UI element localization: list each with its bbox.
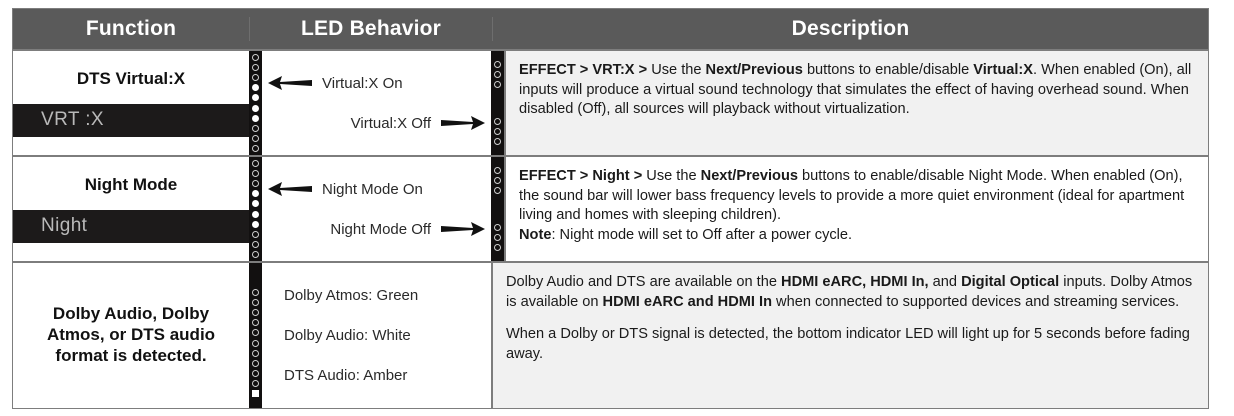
emphasis-text: Virtual:X (973, 62, 1033, 78)
led-behavior-label: Night Mode Off (330, 221, 431, 238)
led-dot-off (252, 180, 259, 187)
led-dot-off (252, 350, 259, 357)
led-dot-off (252, 64, 259, 71)
emphasis-text: Digital Optical (961, 274, 1059, 290)
table-row: Dolby Audio, Dolby Atmos, or DTS audio f… (13, 261, 1208, 408)
led-dot-off (252, 241, 259, 248)
body-text: when connected to supported devices and … (772, 294, 1179, 310)
led-dot-off (494, 71, 501, 78)
led-side-strip-row1 (491, 51, 504, 155)
led-indicator-strip-row3 (249, 263, 262, 408)
description-paragraph: Dolby Audio and DTS are available on the… (506, 273, 1195, 312)
led-dot-off (494, 187, 501, 194)
description-cell-row1: EFFECT > VRT:X > Use the Next/Previous b… (504, 51, 1208, 155)
emphasis-text: EFFECT > Night > (519, 168, 646, 184)
body-text: When a Dolby or DTS signal is detected, … (506, 326, 1190, 362)
led-dot-on (252, 115, 259, 122)
emphasis-text: Next/Previous (706, 62, 803, 78)
led-behavior-line: Virtual:X Off (262, 103, 491, 143)
body-text: Use the (651, 62, 705, 78)
led-dot-off (252, 170, 259, 177)
led-dot-off (252, 360, 259, 367)
led-dot-on (252, 211, 259, 218)
led-behavior-line: Dolby Audio: White (262, 316, 491, 356)
led-behavior-cell-row3: Dolby Atmos: Green Dolby Audio: White DT… (262, 263, 491, 408)
description-cell-row3: Dolby Audio and DTS are available on the… (491, 263, 1208, 408)
table-row: Night Mode Night Night Mode On Night (13, 155, 1208, 261)
emphasis-text: HDMI eARC, HDMI In, (781, 274, 929, 290)
led-dot-on (252, 221, 259, 228)
led-dot-off (252, 231, 259, 238)
led-side-group-bottom (494, 116, 501, 147)
function-title: Dolby Audio, Dolby Atmos, or DTS audio f… (13, 304, 249, 366)
led-behavior-label: Dolby Audio: White (284, 327, 411, 344)
led-dot-off (494, 81, 501, 88)
body-text: and (929, 274, 961, 290)
column-header-description: Description (492, 17, 1208, 41)
led-dot-off (252, 251, 259, 258)
led-dot-off (252, 329, 259, 336)
led-dot-off (252, 135, 259, 142)
led-side-group-bottom (494, 222, 501, 253)
led-behavior-label: Virtual:X On (322, 75, 403, 92)
emphasis-text: EFFECT > VRT:X > (519, 62, 651, 78)
led-dot-off (252, 319, 259, 326)
function-cell-audio-format-detected: Dolby Audio, Dolby Atmos, or DTS audio f… (13, 263, 249, 408)
led-dot-off (252, 289, 259, 296)
led-behavior-line: Night Mode On (262, 169, 491, 209)
led-behavior-table: Function LED Behavior Description DTS Vi… (12, 8, 1209, 409)
led-dot-off (494, 61, 501, 68)
led-dot-off (494, 224, 501, 231)
led-dot-off (252, 125, 259, 132)
led-behavior-line: Night Mode Off (262, 209, 491, 249)
led-dot-off (252, 160, 259, 167)
led-behavior-line: Dolby Atmos: Green (262, 276, 491, 316)
led-behavior-label: DTS Audio: Amber (284, 367, 407, 384)
led-dot-on (252, 84, 259, 91)
description-paragraph: EFFECT > VRT:X > Use the Next/Previous b… (519, 61, 1195, 120)
body-text: Use the (646, 168, 700, 184)
arrow-right-icon (441, 221, 485, 237)
led-dot-off (252, 309, 259, 316)
body-text: Dolby Audio and DTS are available on the (506, 274, 781, 290)
led-dot-off (494, 167, 501, 174)
led-dot-off (494, 244, 501, 251)
led-behavior-cell-row2: Night Mode On Night Mode Off (262, 157, 491, 261)
description-cell-row2: EFFECT > Night > Use the Next/Previous b… (504, 157, 1208, 261)
led-dot-off (252, 370, 259, 377)
arrow-left-icon (268, 75, 312, 91)
description-paragraph: EFFECT > Night > Use the Next/Previous b… (519, 167, 1195, 245)
led-dot-off (494, 234, 501, 241)
led-dot-on (252, 94, 259, 101)
led-side-group-top (494, 59, 501, 90)
led-indicator-strip-row2 (249, 157, 262, 261)
led-dot-on (252, 105, 259, 112)
led-behavior-label: Virtual:X Off (351, 115, 431, 132)
led-dot-off (494, 128, 501, 135)
function-code-bar: VRT :X (13, 104, 249, 137)
table-header-row: Function LED Behavior Description (13, 9, 1208, 49)
led-behavior-line: DTS Audio: Amber (262, 356, 491, 396)
emphasis-text: Next/Previous (701, 168, 798, 184)
led-dot-off (494, 118, 501, 125)
function-title: Night Mode (13, 175, 249, 196)
led-side-strip-row2 (491, 157, 504, 261)
arrow-right-icon (441, 115, 485, 131)
description-paragraph: When a Dolby or DTS signal is detected, … (506, 325, 1195, 364)
function-code-bar: Night (13, 210, 249, 243)
led-behavior-label: Dolby Atmos: Green (284, 287, 418, 304)
led-indicator-strip-row1 (249, 51, 262, 155)
column-header-function: Function (13, 17, 249, 41)
arrow-left-icon (268, 181, 312, 197)
led-behavior-cell-row1: Virtual:X On Virtual:X Off (262, 51, 491, 155)
led-dot-off (252, 74, 259, 81)
function-cell-dts-virtual-x: DTS Virtual:X VRT :X (13, 51, 249, 155)
table-row: DTS Virtual:X VRT :X Virtual:X On Vi (13, 49, 1208, 155)
led-dot-on (252, 190, 259, 197)
body-text: : Night mode will set to Off after a pow… (551, 227, 852, 243)
led-behavior-line: Virtual:X On (262, 63, 491, 103)
led-dot-off (252, 380, 259, 387)
led-dot-off (494, 138, 501, 145)
body-text: buttons to enable/disable (803, 62, 973, 78)
emphasis-text: Note (519, 227, 551, 243)
led-dot-off (494, 177, 501, 184)
led-dot-off (252, 145, 259, 152)
led-side-group-top (494, 165, 501, 196)
led-behavior-label: Night Mode On (322, 181, 423, 198)
column-header-led-behavior: LED Behavior (249, 17, 492, 41)
led-dot-off (252, 340, 259, 347)
led-dot-off (252, 54, 259, 61)
led-square-indicator (252, 390, 259, 397)
function-cell-night-mode: Night Mode Night (13, 157, 249, 261)
led-dot-off (252, 299, 259, 306)
function-title: DTS Virtual:X (13, 69, 249, 90)
emphasis-text: HDMI eARC and HDMI In (603, 294, 772, 310)
led-dot-on (252, 200, 259, 207)
